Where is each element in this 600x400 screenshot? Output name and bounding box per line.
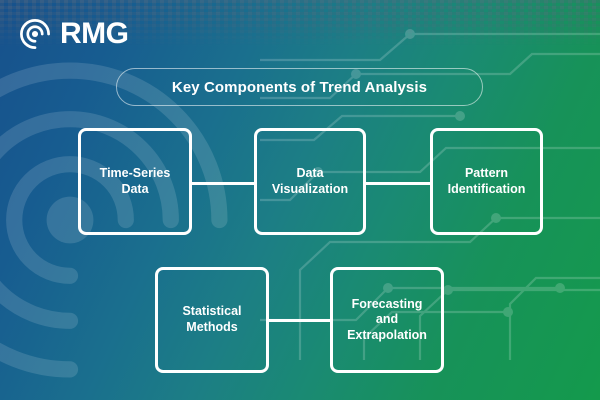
connector-time-series-to-data-visualization <box>192 182 254 185</box>
node-label: Pattern Identification <box>442 166 532 197</box>
node-label: Time-Series Data <box>94 166 177 197</box>
connector-statistical-methods-to-forecasting <box>269 319 330 322</box>
page-title-label: Key Components of Trend Analysis <box>172 79 427 96</box>
infographic-canvas: RMG Key Components of Trend Analysis Tim… <box>0 0 600 400</box>
spiral-logo-icon <box>18 17 52 51</box>
node-label: Forecasting and Extrapolation <box>341 297 433 344</box>
node-label: Data Visualization <box>266 166 354 197</box>
node-pattern-identification[interactable]: Pattern Identification <box>430 128 543 235</box>
brand-logo[interactable]: RMG <box>18 17 129 51</box>
node-label: Statistical Methods <box>176 304 247 335</box>
node-time-series-data[interactable]: Time-Series Data <box>78 128 192 235</box>
connector-data-visualization-to-pattern-identification <box>366 182 430 185</box>
brand-name: RMG <box>60 19 129 49</box>
node-data-visualization[interactable]: Data Visualization <box>254 128 366 235</box>
node-forecasting-and-extrapolation[interactable]: Forecasting and Extrapolation <box>330 267 444 373</box>
node-statistical-methods[interactable]: Statistical Methods <box>155 267 269 373</box>
page-title: Key Components of Trend Analysis <box>116 68 483 106</box>
